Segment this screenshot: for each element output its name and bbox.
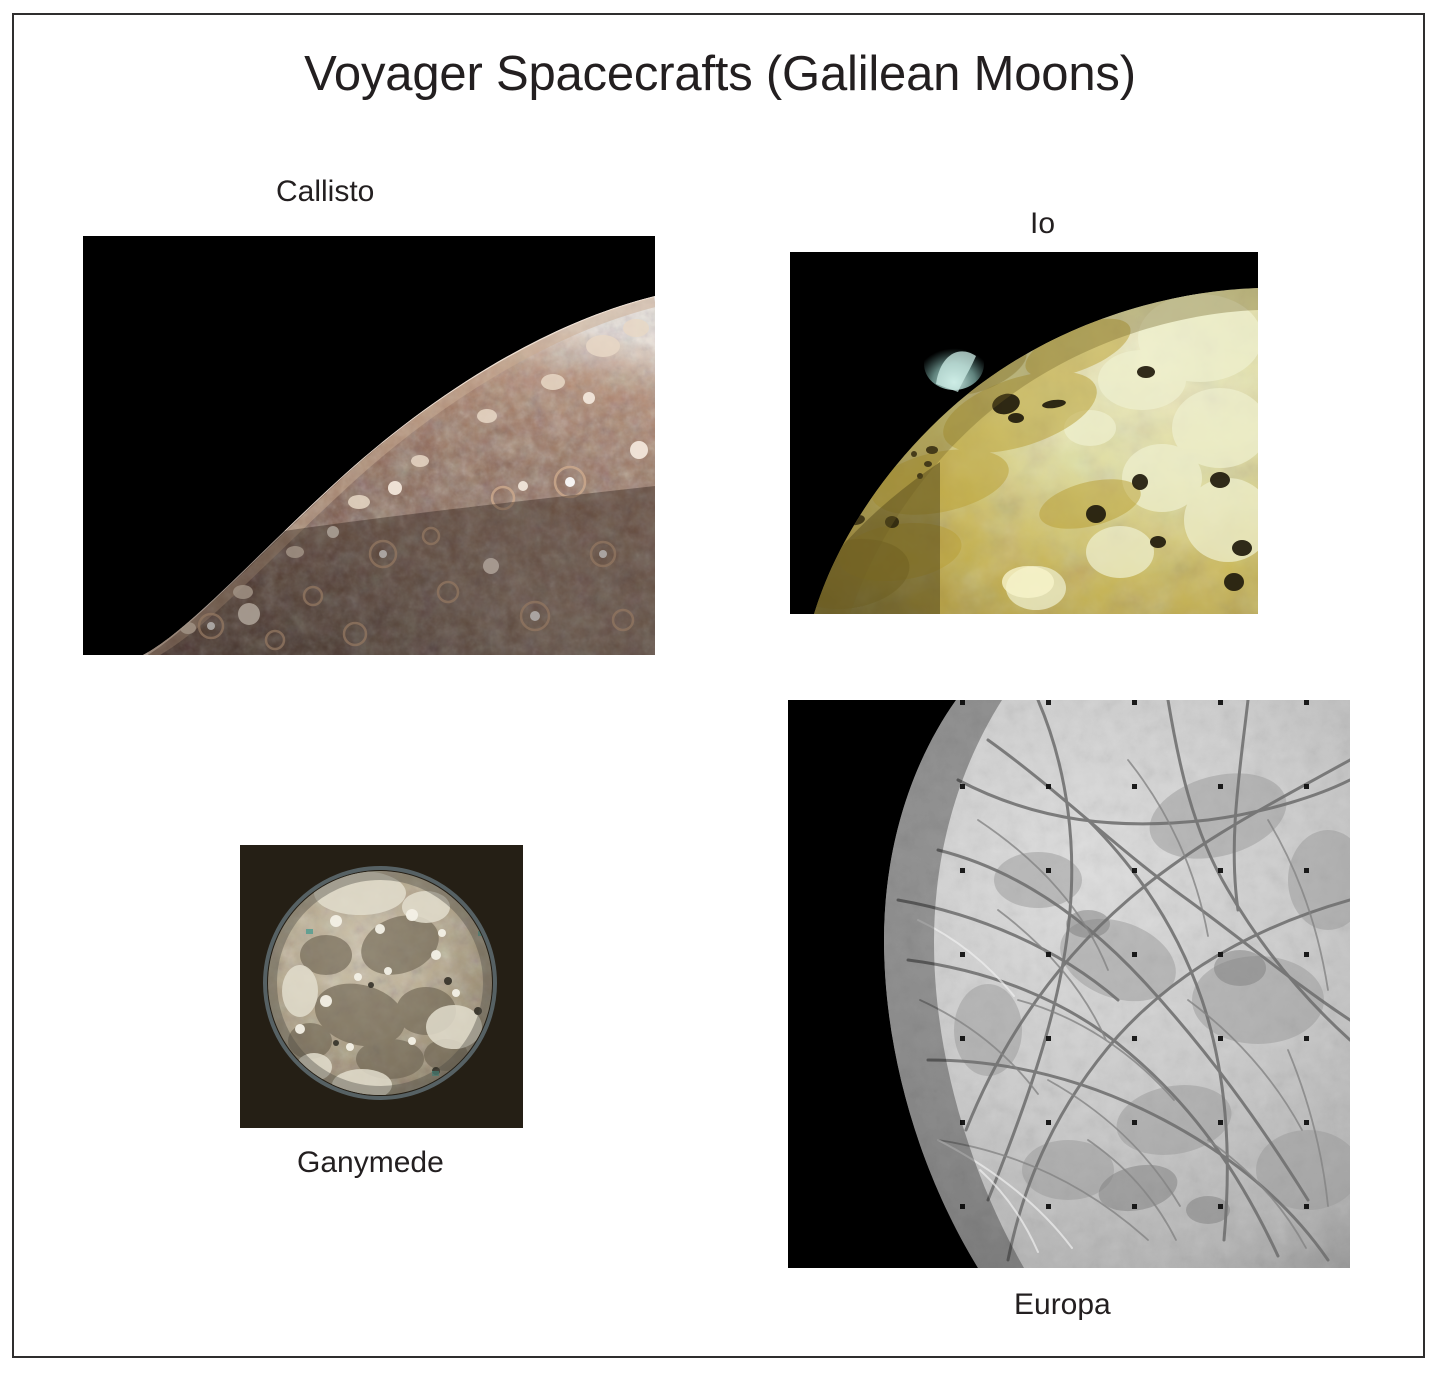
io-image: [790, 252, 1258, 614]
photo-ganymede: [240, 845, 523, 1128]
callisto-image: [83, 236, 655, 655]
page-title: Voyager Spacecrafts (Galilean Moons): [0, 46, 1440, 102]
figure-label-ganymede: Ganymede: [297, 1146, 444, 1180]
figure-label-callisto: Callisto: [276, 175, 374, 209]
figure-page: Voyager Spacecrafts (Galilean Moons) Cal…: [0, 0, 1440, 1373]
photo-callisto: [83, 236, 655, 655]
photo-io: [790, 252, 1258, 614]
photo-europa: [788, 700, 1350, 1268]
figure-label-io: Io: [1030, 207, 1055, 241]
europa-image: [788, 700, 1350, 1268]
ganymede-image: [240, 845, 523, 1128]
figure-label-europa: Europa: [1014, 1288, 1111, 1322]
